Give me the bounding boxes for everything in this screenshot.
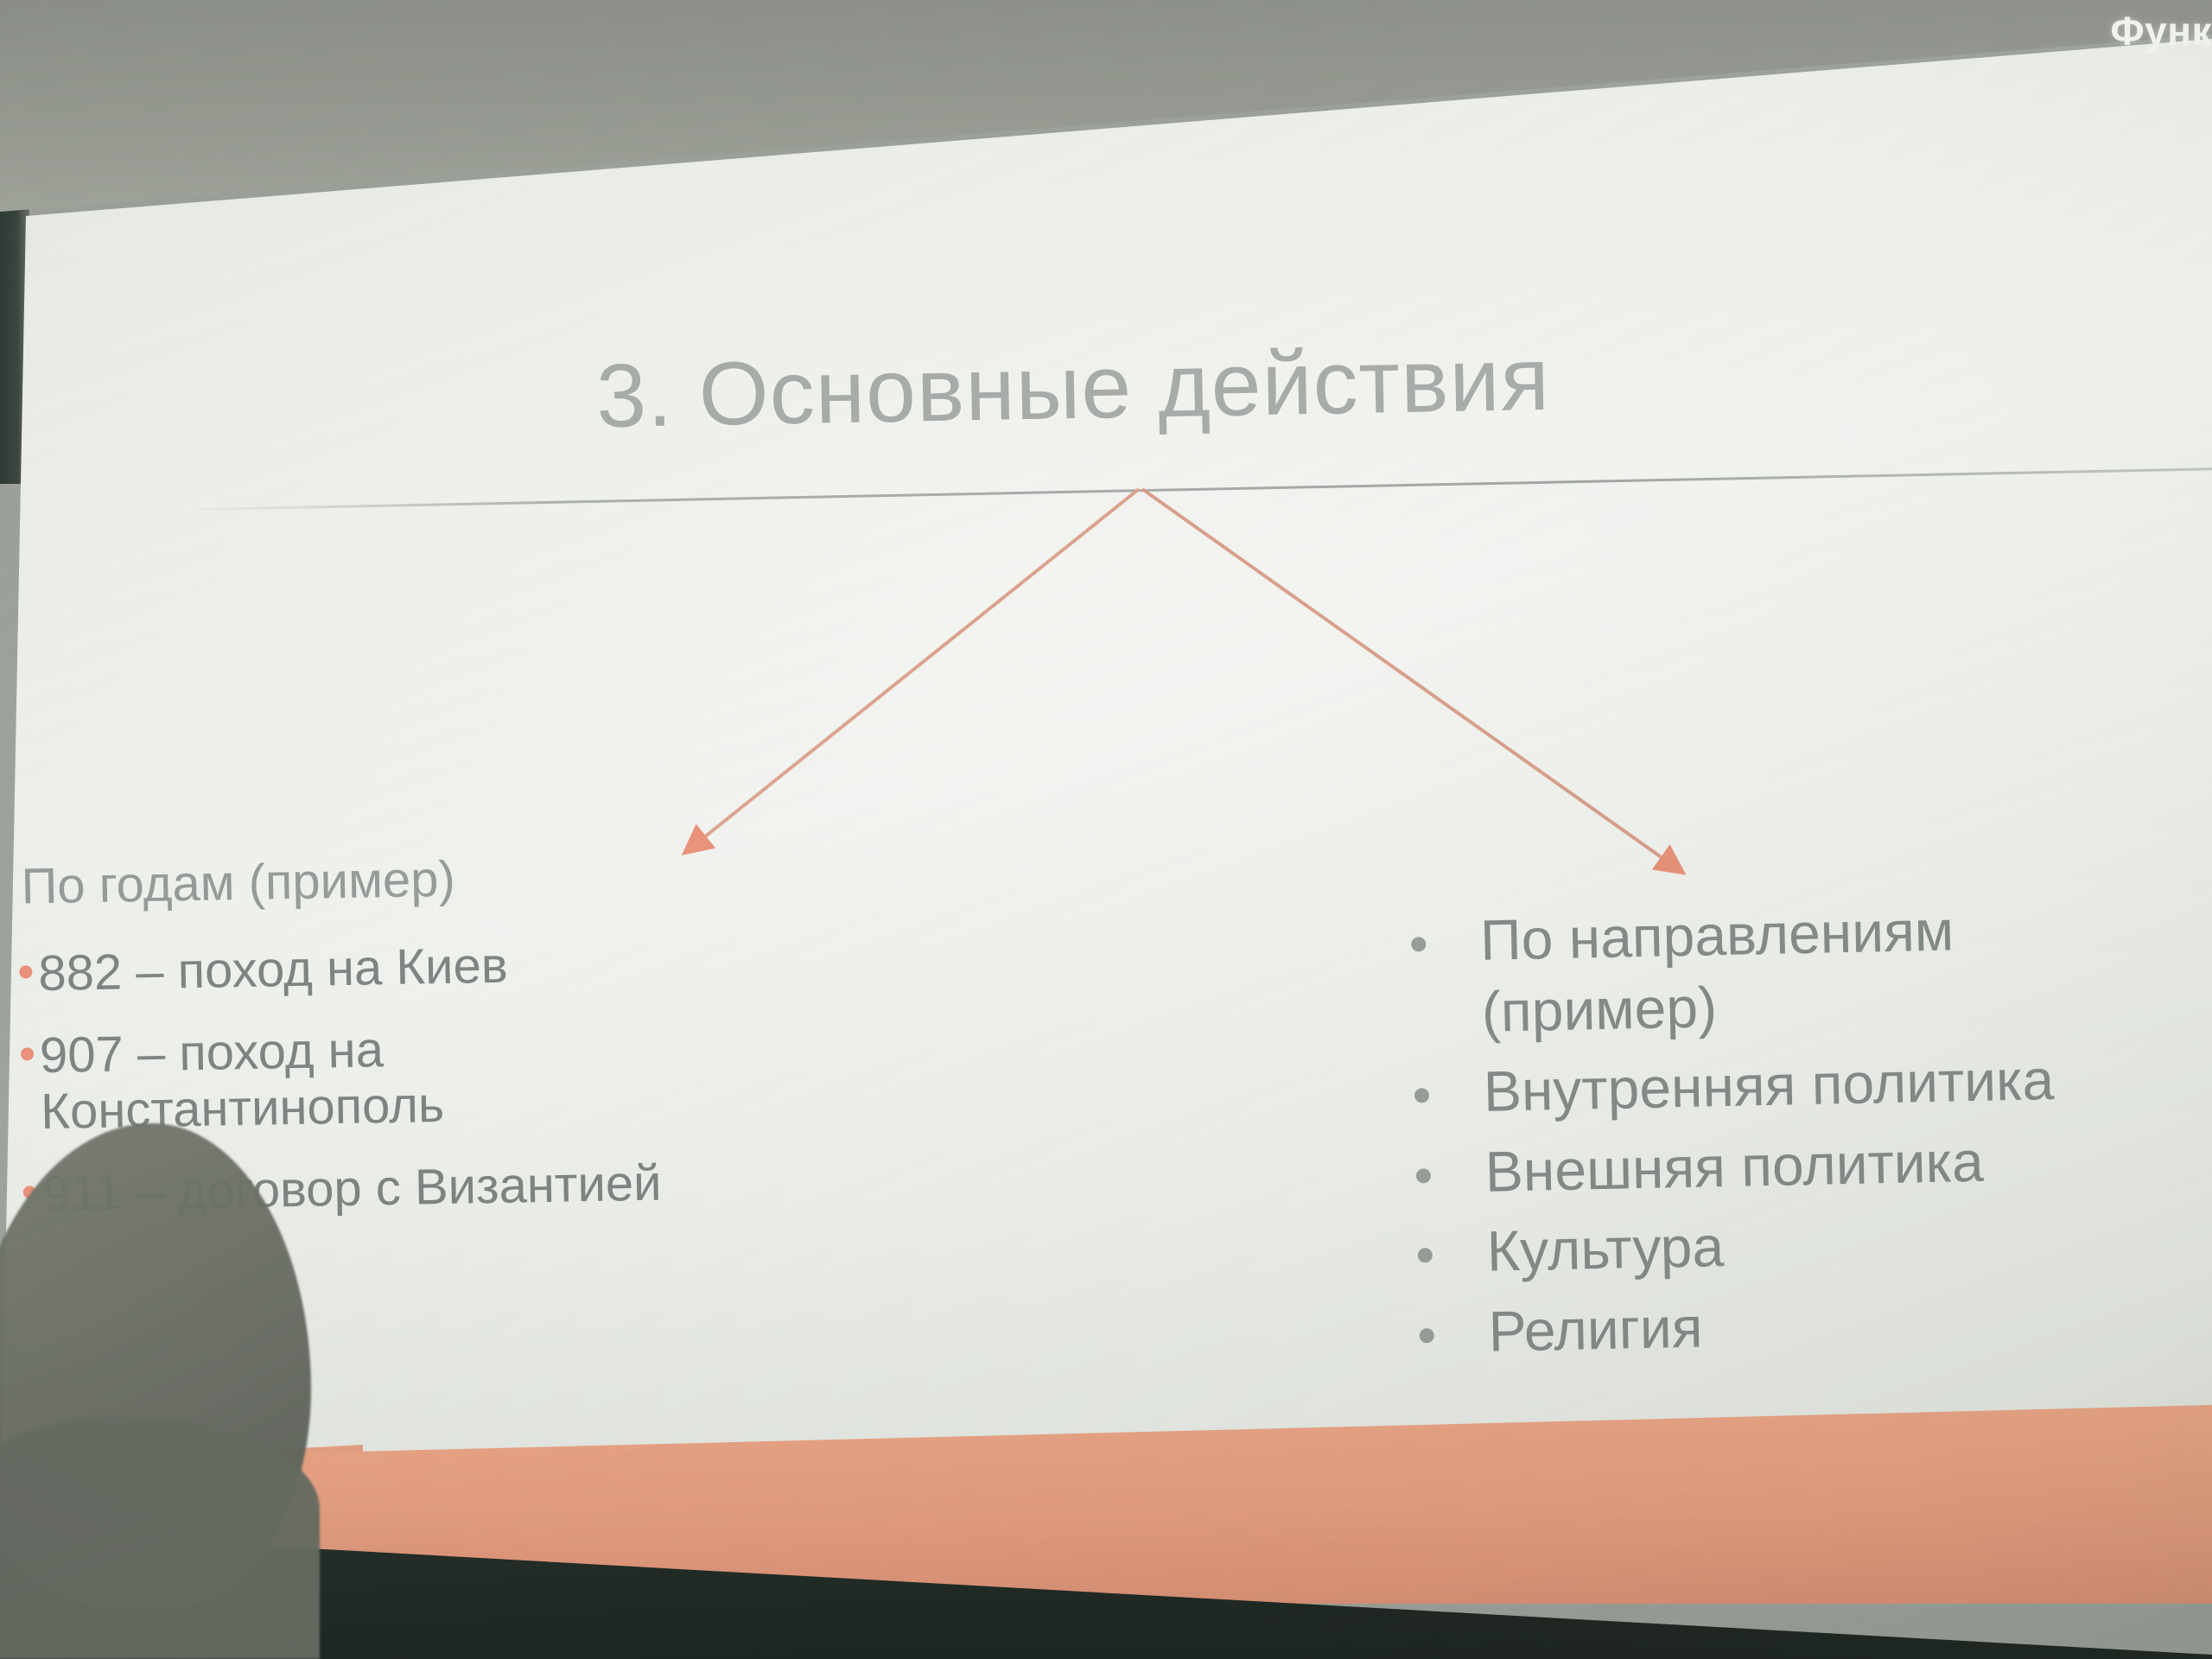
right-bullet-item-5: Религия (1395, 1281, 2212, 1368)
right-bullet-item-1: По направлениям (пример) (1386, 889, 2212, 1047)
bullet-dot-icon (21, 1047, 34, 1060)
bullet-dot-icon (1411, 937, 1426, 951)
taskbar-title-label: Функ (2110, 8, 2212, 54)
right-bullet-label-4: Культура (1486, 1214, 1725, 1283)
bullet-dot-icon (1416, 1168, 1431, 1183)
left-bullet-item-2: 907 – поход на Константинополь (16, 1017, 674, 1141)
right-column: По направлениям (пример) Внутренняя поли… (1386, 889, 2212, 1379)
right-bullet-item-3: Внешняя политика (1391, 1120, 2212, 1207)
person-silhouette-shoulder (0, 1417, 320, 1659)
right-bullet-label-5: Религия (1488, 1294, 1703, 1363)
right-bullet-label-2: Внутренняя политика (1483, 1047, 2055, 1123)
left-bullet-label-2: 907 – поход на Константинополь (40, 1021, 445, 1140)
bullet-dot-icon (19, 965, 32, 978)
photo-of-projected-slide: Функ 3. Основные действия По годам (прим… (0, 0, 2212, 1659)
slide-title: 3. Основные действия (595, 328, 1551, 448)
right-bullet-item-2: Внутренняя политика (1389, 1040, 2212, 1128)
right-bullet-label-3: Внешняя политика (1484, 1128, 1984, 1203)
right-bullet-label-1: По направлениям (1479, 898, 1954, 971)
right-bullet-item-4: Культура (1393, 1200, 2212, 1287)
left-bullet-item-1: 882 – поход на Киев (14, 935, 671, 1002)
bullet-dot-icon (1420, 1328, 1434, 1343)
bullet-dot-icon (1418, 1248, 1433, 1262)
right-bullet-label-1-line2: (пример) (1481, 960, 2212, 1045)
left-bullet-label-1: 882 – поход на Киев (38, 938, 508, 1001)
taskbar-strip[interactable]: Функ (1832, 0, 2212, 67)
bullet-dot-icon (1414, 1088, 1429, 1103)
left-column-heading: По годам (пример) (21, 849, 670, 913)
